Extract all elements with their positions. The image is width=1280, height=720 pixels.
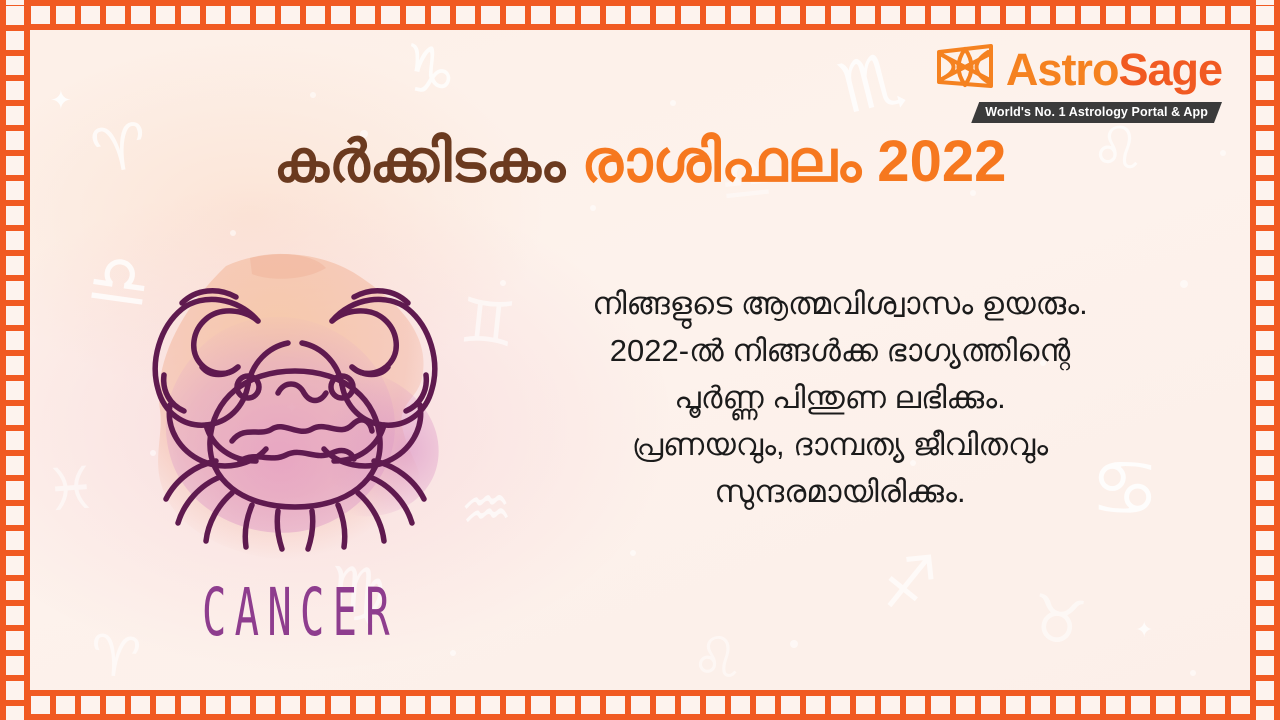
title-rest: രാശിഫലം 2022 — [581, 129, 1006, 194]
description-line: 2022-ൽ നിങ്ങൾക്ക ഭാഗ്യത്തിന്റെ — [470, 327, 1210, 374]
decorative-dot — [230, 230, 236, 236]
border-perforations-right — [1256, 0, 1274, 720]
taurus-glyph: ♉ — [1025, 586, 1091, 657]
logo-tagline: World's No. 1 Astrology Portal & App — [971, 102, 1222, 123]
zodiac-illustration: CANCER — [110, 240, 490, 660]
pisces-glyph: ♓ — [43, 458, 99, 519]
border-bottom — [0, 690, 1280, 720]
logo-word-sage: Sage — [1118, 44, 1222, 95]
card-canvas: ♈♎♒♑♏♊♌♋♉♐♍♓♈♌♎✦✦✦✦ — [30, 30, 1250, 690]
description-line: പൂർണ്ണ പിന്തുണ ലഭിക്കും. — [470, 374, 1210, 421]
decorative-dot — [670, 100, 676, 106]
border-perforations-bottom — [0, 696, 1280, 714]
astrosage-crisscross-box-icon — [934, 42, 996, 97]
horoscope-card: ♈♎♒♑♏♊♌♋♉♐♍♓♈♌♎✦✦✦✦ — [0, 0, 1280, 720]
logo-tagline-wrap: World's No. 1 Astrology Portal & App — [934, 102, 1222, 123]
sagittarius-glyph: ♐ — [877, 547, 943, 619]
border-right — [1250, 0, 1280, 720]
cancer-crab-icon — [140, 265, 450, 565]
decorative-dot — [630, 550, 636, 556]
description-line: നിങ്ങളുടെ ആത്മവിശ്വാസം ഉയരും. — [470, 280, 1210, 327]
description-line: സുന്ദരമായിരിക്കും. — [470, 468, 1210, 515]
astrosage-logo[interactable]: AstroSage World's No. 1 Astrology Portal… — [934, 42, 1222, 123]
description-line: പ്രണയവും, ദാമ്പത്യ ജീവിതവും — [470, 421, 1210, 468]
decorative-dot — [590, 205, 596, 211]
horoscope-description: നിങ്ങളുടെ ആത്മവിശ്വാസം ഉയരും. 2022-ൽ നിങ… — [470, 280, 1210, 516]
logo-row: AstroSage — [934, 42, 1222, 97]
decorative-dot — [310, 92, 316, 98]
capricorn-glyph: ♑ — [394, 35, 463, 110]
page-title: കർക്കിടകം രാശിഫലം 2022 — [30, 128, 1250, 196]
border-perforations-left — [6, 0, 24, 720]
scorpio-glyph: ♏ — [832, 41, 910, 124]
title-sign-name: കർക്കിടകം — [274, 129, 566, 194]
border-top — [0, 0, 1280, 30]
zodiac-sign-label: CANCER — [125, 575, 475, 652]
border-left — [0, 0, 30, 720]
decorative-dot — [790, 640, 798, 648]
border-perforations-top — [0, 6, 1280, 24]
decorative-dot — [1190, 670, 1196, 676]
sparkle-star: ✦ — [1135, 620, 1153, 642]
logo-wordmark: AstroSage — [1006, 47, 1222, 92]
leo-glyph-2: ♌ — [685, 626, 746, 690]
sparkle-star: ✦ — [50, 88, 72, 114]
logo-word-astro: Astro — [1006, 44, 1119, 95]
